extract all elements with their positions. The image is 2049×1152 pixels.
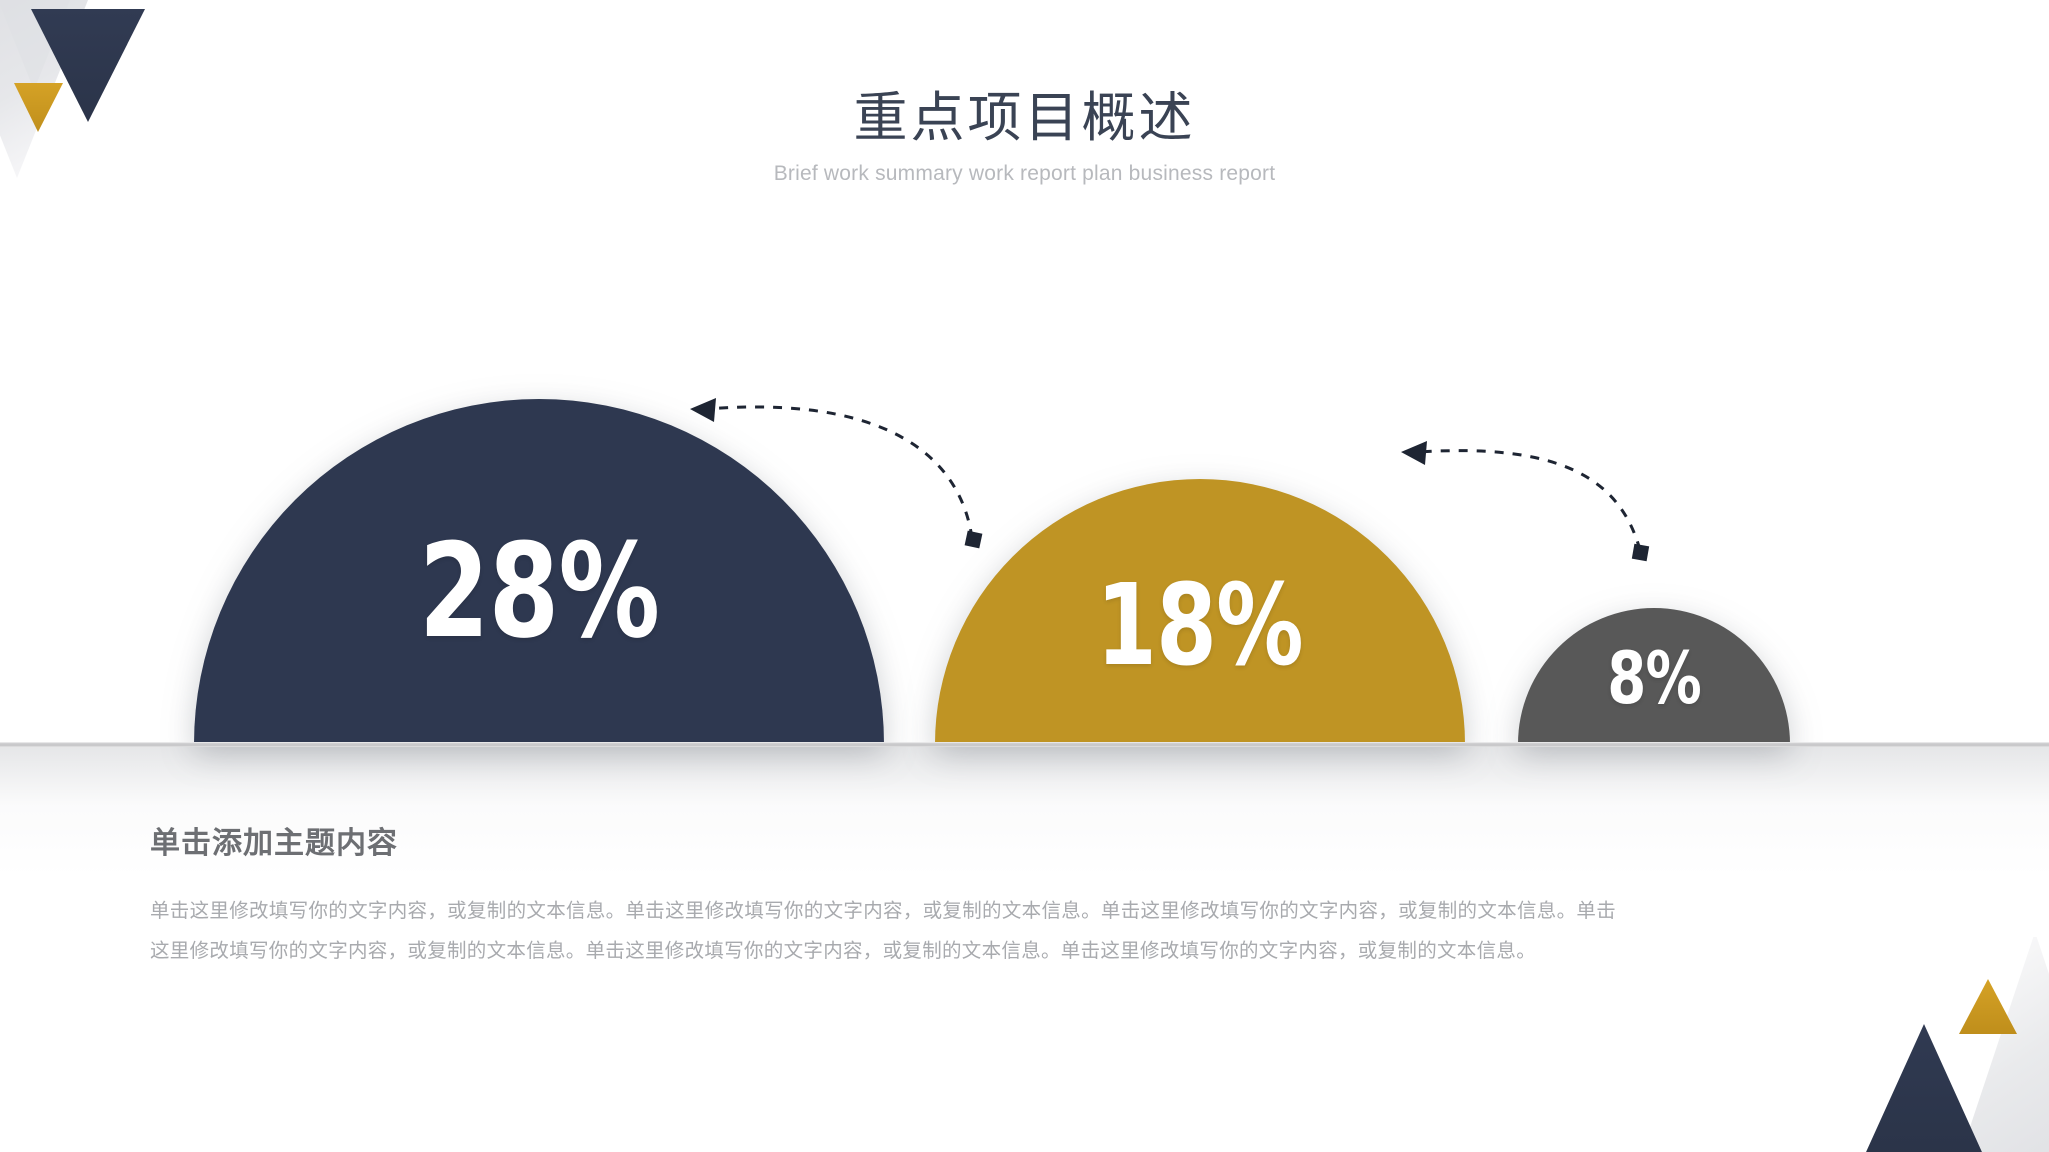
semicircle-navy[interactable]: 28% [194, 399, 884, 744]
semicircle-navy-label: 28% [419, 526, 659, 656]
body-text-block: 单击添加主题内容 单击这里修改填写你的文字内容，或复制的文本信息。单击这里修改填… [150, 818, 1616, 972]
triangle-cluster-up [1819, 937, 2049, 1152]
semicircle-chart: 28% 18% 8% [0, 0, 2049, 748]
semicircle-gray-label: 8% [1607, 642, 1701, 714]
gold-triangle-up [1959, 979, 2017, 1034]
semicircle-gold-label: 18% [1097, 570, 1304, 682]
navy-triangle-up [1857, 1024, 1991, 1152]
baseline-rule [0, 742, 2049, 747]
body-heading: 单击添加主题内容 [150, 818, 1616, 862]
semicircle-gray[interactable]: 8% [1518, 608, 1790, 744]
gray-triangle-up [1955, 937, 2049, 1152]
slide-canvas: 重点项目概述 Brief work summary work report pl… [0, 0, 2049, 1152]
semicircle-gold[interactable]: 18% [935, 479, 1465, 744]
body-paragraph: 单击这里修改填写你的文字内容，或复制的文本信息。单击这里修改填写你的文字内容，或… [150, 892, 1616, 972]
